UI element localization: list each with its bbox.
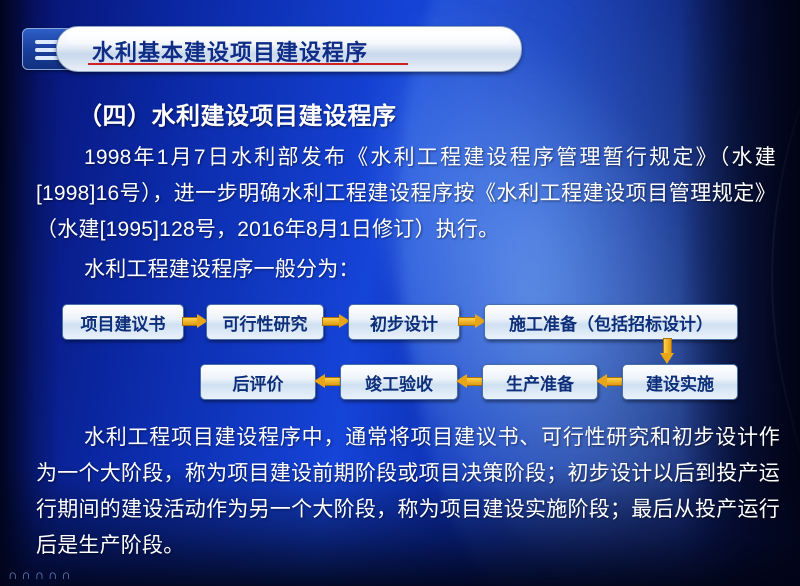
flow-node-completion-acceptance: 竣工验收 xyxy=(340,364,458,400)
slide-header: 水利基本建设项目建设程序 xyxy=(22,26,522,72)
flow-node-production-prep: 生产准备 xyxy=(482,364,598,400)
flow-arrow-down xyxy=(660,338,673,364)
flow-arrow-5 xyxy=(456,374,484,387)
flow-node-preliminary-design: 初步设计 xyxy=(348,304,460,340)
paragraph-regulation-intro: 1998年1月7日水利部发布《水利工程建设程序管理暂行规定》（水建[1998]1… xyxy=(36,140,776,248)
flow-node-construction-implementation: 建设实施 xyxy=(622,364,738,400)
flow-node-post-evaluation: 后评价 xyxy=(200,364,316,400)
flow-arrow-4 xyxy=(596,374,624,387)
flow-arrow-3 xyxy=(458,314,486,327)
section-title: （四）水利建设项目建设程序 xyxy=(78,96,397,131)
flow-arrow-1 xyxy=(182,314,208,327)
flow-arrow-2 xyxy=(322,314,350,327)
flow-node-construction-prep: 施工准备（包括招标设计） xyxy=(484,304,738,340)
paragraph-stage-explanation: 水利工程项目建设程序中，通常将项目建议书、可行性研究和初步设计作为一个大阶段，称… xyxy=(36,420,780,564)
construction-procedure-flowchart: 项目建议书 可行性研究 初步设计 施工准备（包括招标设计） 后评价 竣工验收 生… xyxy=(0,296,800,414)
flow-node-proposal: 项目建议书 xyxy=(62,304,184,340)
flow-node-feasibility: 可行性研究 xyxy=(206,304,324,340)
decorative-marks: ∩∩∩∩∩ xyxy=(8,567,75,582)
flow-arrow-6 xyxy=(314,374,342,387)
slide-canvas: 水利基本建设项目建设程序 （四）水利建设项目建设程序 1998年1月7日水利部发… xyxy=(0,0,800,586)
paragraph-stages-lead: 水利工程建设程序一般分为： xyxy=(36,252,776,288)
header-underline xyxy=(88,63,408,65)
